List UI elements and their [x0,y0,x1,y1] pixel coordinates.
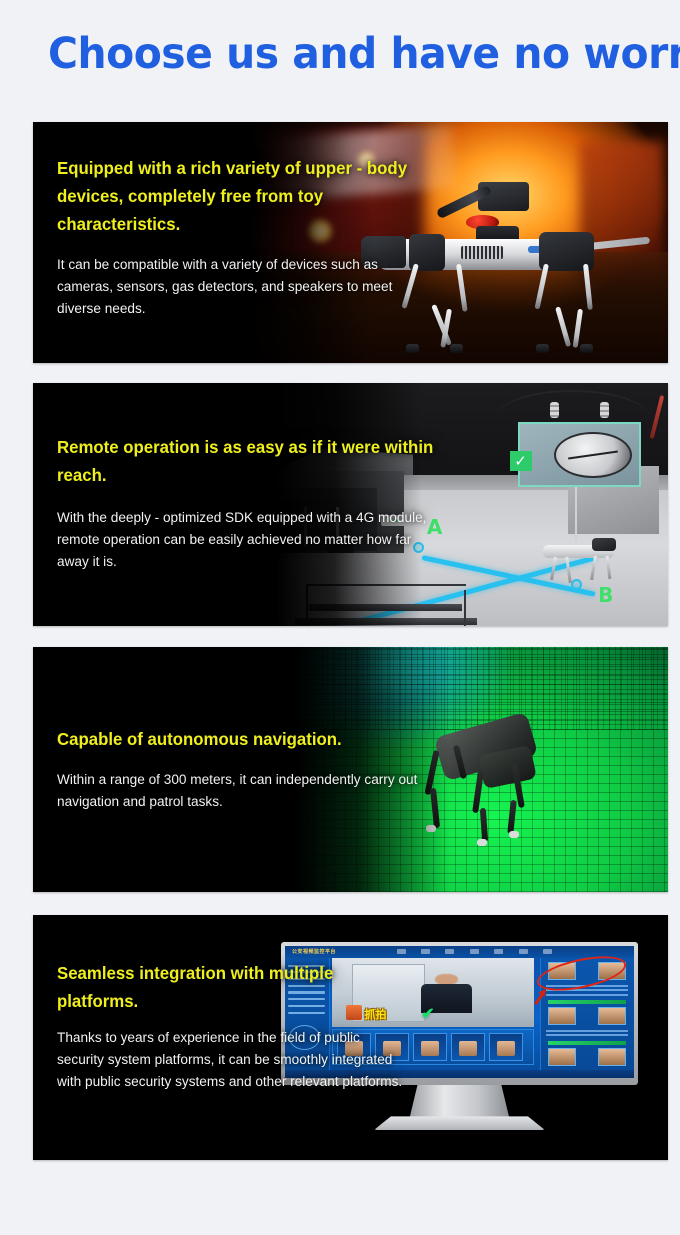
robot-vent-grille [461,246,503,258]
card-2-heading: Remote operation is as easy as if it wer… [57,433,441,489]
topbar-icon-1 [397,949,406,954]
card-3-body: Within a range of 300 meters, it can ind… [57,769,441,813]
robot-foot-front [406,344,419,353]
detected-person-head [435,974,457,985]
face-card-3 [413,1033,447,1061]
match-detail-row-3 [546,994,628,996]
dashboard-title: 公安视频监控平台 [292,948,336,955]
face-card-4 [451,1033,485,1061]
stair-rail-right [464,590,466,626]
face-thumbnail [497,1041,515,1056]
match-photo-right-2 [598,1007,626,1025]
promo-page: Choose us and have no worries! [0,0,680,1235]
face-thumbnail [459,1041,477,1056]
robot-dog-2-leg-4 [606,556,612,580]
card-1-body: It can be compatible with a variety of d… [57,254,431,320]
robot-dog-3-leg-3b [507,800,517,835]
face-card-5 [489,1033,523,1061]
robot-dog-2 [536,529,627,587]
match-score-bar-2 [548,1041,626,1045]
match-photo-right-3 [598,1048,626,1066]
dashboard-topbar [285,946,634,958]
robot-dog-2-leg-1 [550,557,557,580]
snapshot-check-icon: ✔ [421,1004,434,1024]
robot-foot-rear [536,344,549,353]
topbar-icon-2 [421,949,430,954]
robot-leg-lower-rear2 [572,308,582,348]
robot-dog-2-leg-3 [591,556,598,581]
robot-dog-3-foot-2 [477,839,487,846]
match-detail-row-5 [546,1034,628,1036]
card-2-copy: Remote operation is as easy as if it wer… [57,433,457,573]
page-title: Choose us and have no worries! [48,26,629,82]
match-detail-row-4 [546,1030,628,1032]
card-4-body: Thanks to years of experience in the fie… [57,1027,403,1093]
match-photo-left-2 [548,1007,576,1025]
robot-dog-3-leg-2b [480,808,488,843]
card-3-copy: Capable of autonomous navigation. Within… [57,725,457,813]
insulator-2 [600,402,609,418]
card-3-heading: Capable of autonomous navigation. [57,725,441,753]
card-4-heading: Seamless integration with multiple platf… [57,959,403,1015]
feature-card-3: Capable of autonomous navigation. Within… [33,647,668,892]
face-thumbnail [421,1041,439,1056]
topbar-icon-4 [470,949,479,954]
card-1-copy: Equipped with a rich variety of upper - … [57,154,447,320]
robot-foot-rear2 [580,344,593,353]
robot-leg-upper-front2 [456,264,468,312]
robot-dog-2-head [592,538,616,551]
pressure-gauge-icon [554,432,631,478]
card-2-body: With the deeply - optimized SDK equipped… [57,507,441,573]
match-score-bar-1 [548,1000,626,1004]
topbar-icon-6 [519,949,528,954]
feature-card-2: ⇢ A B ✓ [33,383,668,626]
robot-leg-upper-rear [535,264,550,310]
monitor-stand-neck [409,1085,509,1118]
robot-leg-upper-rear2 [583,264,593,311]
card-4-copy: Seamless integration with multiple platf… [57,959,417,1093]
monitor-stand-base [374,1116,545,1130]
robot-payload-module [453,179,536,243]
robot-dog-2-leg-2 [565,557,572,583]
topbar-icon-5 [494,949,503,954]
feature-card-4: 公安视频监控平台 [33,915,668,1160]
card-1-heading: Equipped with a rich variety of upper - … [57,154,431,238]
robot-leg-lower-rear [556,306,572,347]
feature-card-1: Equipped with a rich variety of upper - … [33,122,668,363]
gauge-needle [568,450,618,459]
topbar-icon-3 [445,949,454,954]
match-photo-left-3 [548,1048,576,1066]
robot-dog-3-foot-3 [509,831,519,838]
topbar-icon-7 [543,949,552,954]
insulator-1 [550,402,559,418]
inspection-check-icon: ✓ [510,451,532,471]
robot-foot-front2 [450,344,463,353]
